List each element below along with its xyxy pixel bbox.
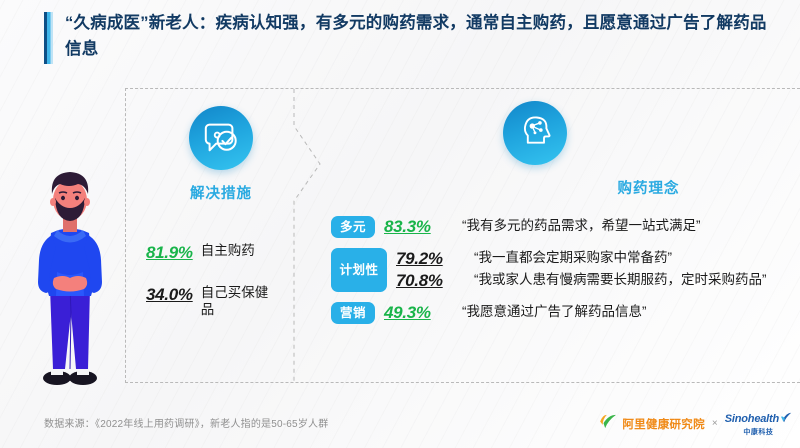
concept-quote: “我有多元的药品需求，希望一站式满足”	[462, 217, 701, 235]
concept-line: 79.2% “我一直都会定期采购家中常备药”	[387, 249, 794, 269]
sinohealth-top: Sinohealth	[725, 411, 792, 427]
sinohealth-label: Sinohealth	[725, 414, 779, 425]
concept-line: 49.3% “我愿意通过广告了解药品信息”	[375, 303, 794, 323]
concept-icon-circle	[503, 101, 567, 165]
concept-quote: “我愿意通过广告了解药品信息”	[462, 303, 647, 321]
standing-man-svg	[24, 160, 116, 390]
sinohealth-sublabel: 中康科技	[743, 429, 773, 436]
right-column: 购药理念 多元 83.3% “我有多元的药品需求，希望一站式满足” 计划性	[331, 101, 794, 331]
left-stats-list: 81.9% 自主购药 34.0% 自己买保健品	[146, 243, 296, 319]
header: “久病成医”新老人：疾病认知强，有多元的购药需求，通常自主购药，且愿意通过广告了…	[44, 12, 770, 64]
concept-group: 营销 49.3% “我愿意通过广告了解药品信息”	[331, 302, 794, 324]
ali-check-icon	[599, 414, 618, 434]
page-title: “久病成医”新老人：疾病认知强，有多元的购药需求，通常自主购药，且愿意通过广告了…	[65, 11, 770, 62]
standing-man-illustration	[24, 160, 116, 390]
sinohealth-mark-icon	[781, 411, 792, 427]
group-lines: 83.3% “我有多元的药品需求，希望一站式满足”	[375, 216, 794, 238]
concept-group: 计划性 79.2% “我一直都会定期采购家中常备药” 70.8% “我或家人患有…	[331, 248, 794, 292]
sinohealth-logo: Sinohealth 中康科技	[725, 411, 792, 436]
concept-percent: 83.3%	[384, 217, 450, 237]
head-brain-icon	[517, 113, 553, 154]
title-accent-bar	[44, 12, 53, 64]
stat-percent: 81.9%	[146, 243, 193, 263]
solution-icon-circle	[189, 106, 253, 170]
group-badge: 营销	[331, 302, 375, 324]
group-badge: 计划性	[331, 248, 387, 292]
stat-row: 34.0% 自己买保健品	[146, 285, 296, 319]
concept-percent: 49.3%	[384, 303, 450, 323]
concept-quote: “我一直都会定期采购家中常备药”	[474, 249, 672, 267]
ali-health-logo: 阿里健康研究院	[599, 414, 705, 434]
concept-quote: “我或家人患有慢病需要长期服药，定时采购药品”	[474, 271, 767, 289]
content-panel: 解决措施 81.9% 自主购药 34.0% 自己买保健品	[125, 88, 800, 383]
concept-percent: 79.2%	[396, 249, 462, 269]
ali-health-label: 阿里健康研究院	[622, 416, 705, 432]
stat-label: 自主购药	[201, 243, 255, 260]
speech-bubble-check-icon	[202, 117, 240, 160]
source-note: 数据来源：《2022年线上用药调研》，新老人指的是50-65岁人群	[44, 415, 328, 430]
stat-row: 81.9% 自主购药	[146, 243, 296, 263]
concept-line: 70.8% “我或家人患有慢病需要长期服药，定时采购药品”	[387, 271, 794, 291]
concept-rows: 多元 83.3% “我有多元的药品需求，希望一站式满足” 计划性 79.2%	[331, 216, 794, 324]
left-column: 解决措施 81.9% 自主购药 34.0% 自己买保健品	[146, 106, 296, 335]
stat-percent: 34.0%	[146, 285, 193, 305]
slide: “久病成医”新老人：疾病认知强，有多元的购药需求，通常自主购药，且愿意通过广告了…	[0, 0, 800, 448]
concept-line: 83.3% “我有多元的药品需求，希望一站式满足”	[375, 217, 794, 237]
concept-percent: 70.8%	[396, 271, 462, 291]
right-column-title: 购药理念	[503, 177, 794, 198]
group-lines: 49.3% “我愿意通过广告了解药品信息”	[375, 302, 794, 324]
left-column-title: 解决措施	[146, 182, 296, 203]
group-badge: 多元	[331, 216, 375, 238]
logo-group: 阿里健康研究院 × Sinohealth 中康科技	[599, 411, 792, 436]
concept-group: 多元 83.3% “我有多元的药品需求，希望一站式满足”	[331, 216, 794, 238]
logo-separator: ×	[712, 418, 718, 429]
stat-label: 自己买保健品	[201, 285, 273, 319]
group-lines: 79.2% “我一直都会定期采购家中常备药” 70.8% “我或家人患有慢病需要…	[387, 248, 794, 292]
